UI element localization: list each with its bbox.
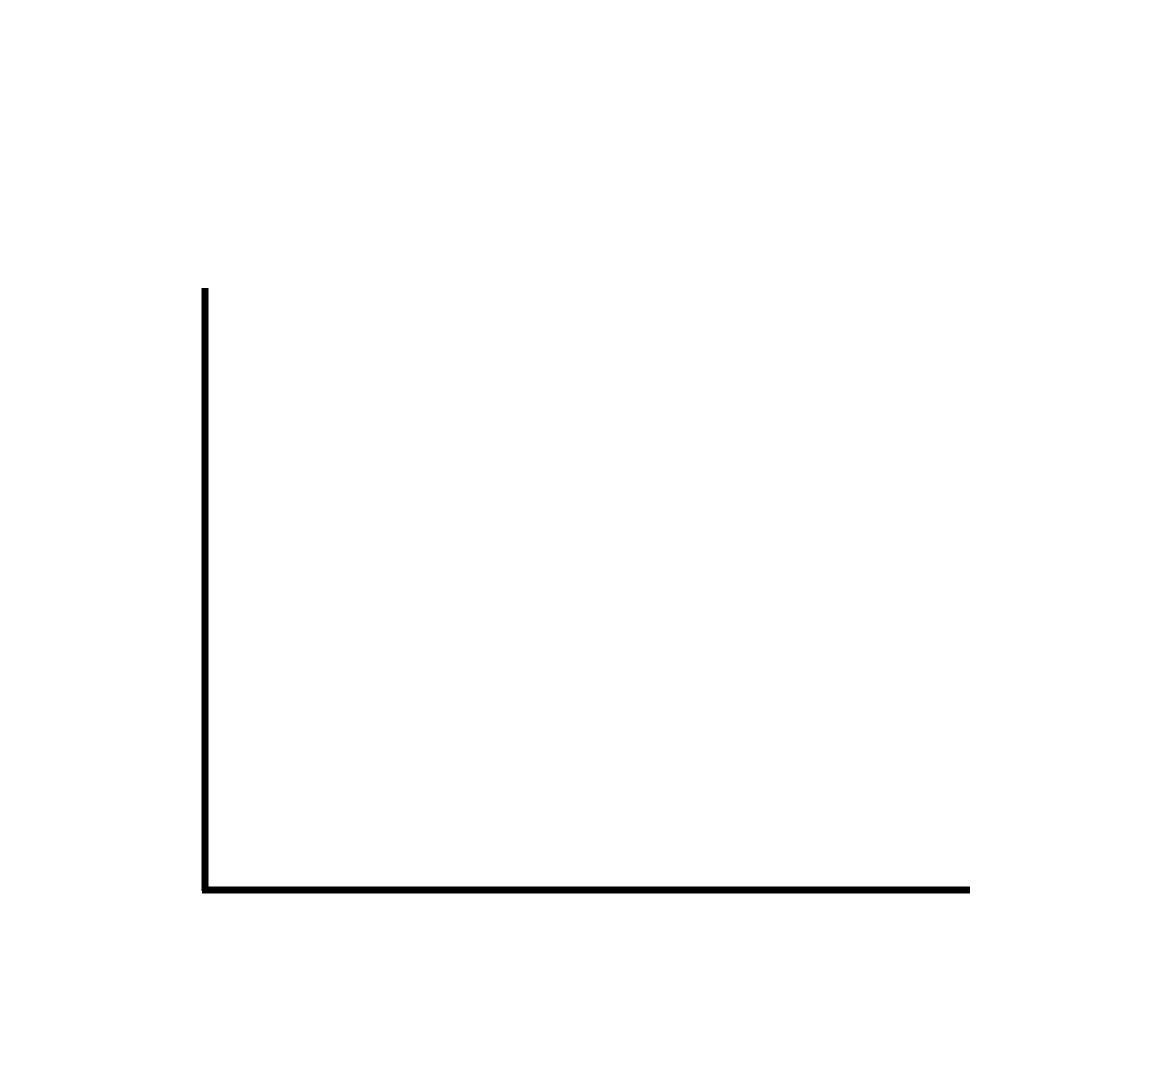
plot-area — [0, 0, 1163, 1086]
elisa-chart-figure — [0, 0, 1163, 1086]
